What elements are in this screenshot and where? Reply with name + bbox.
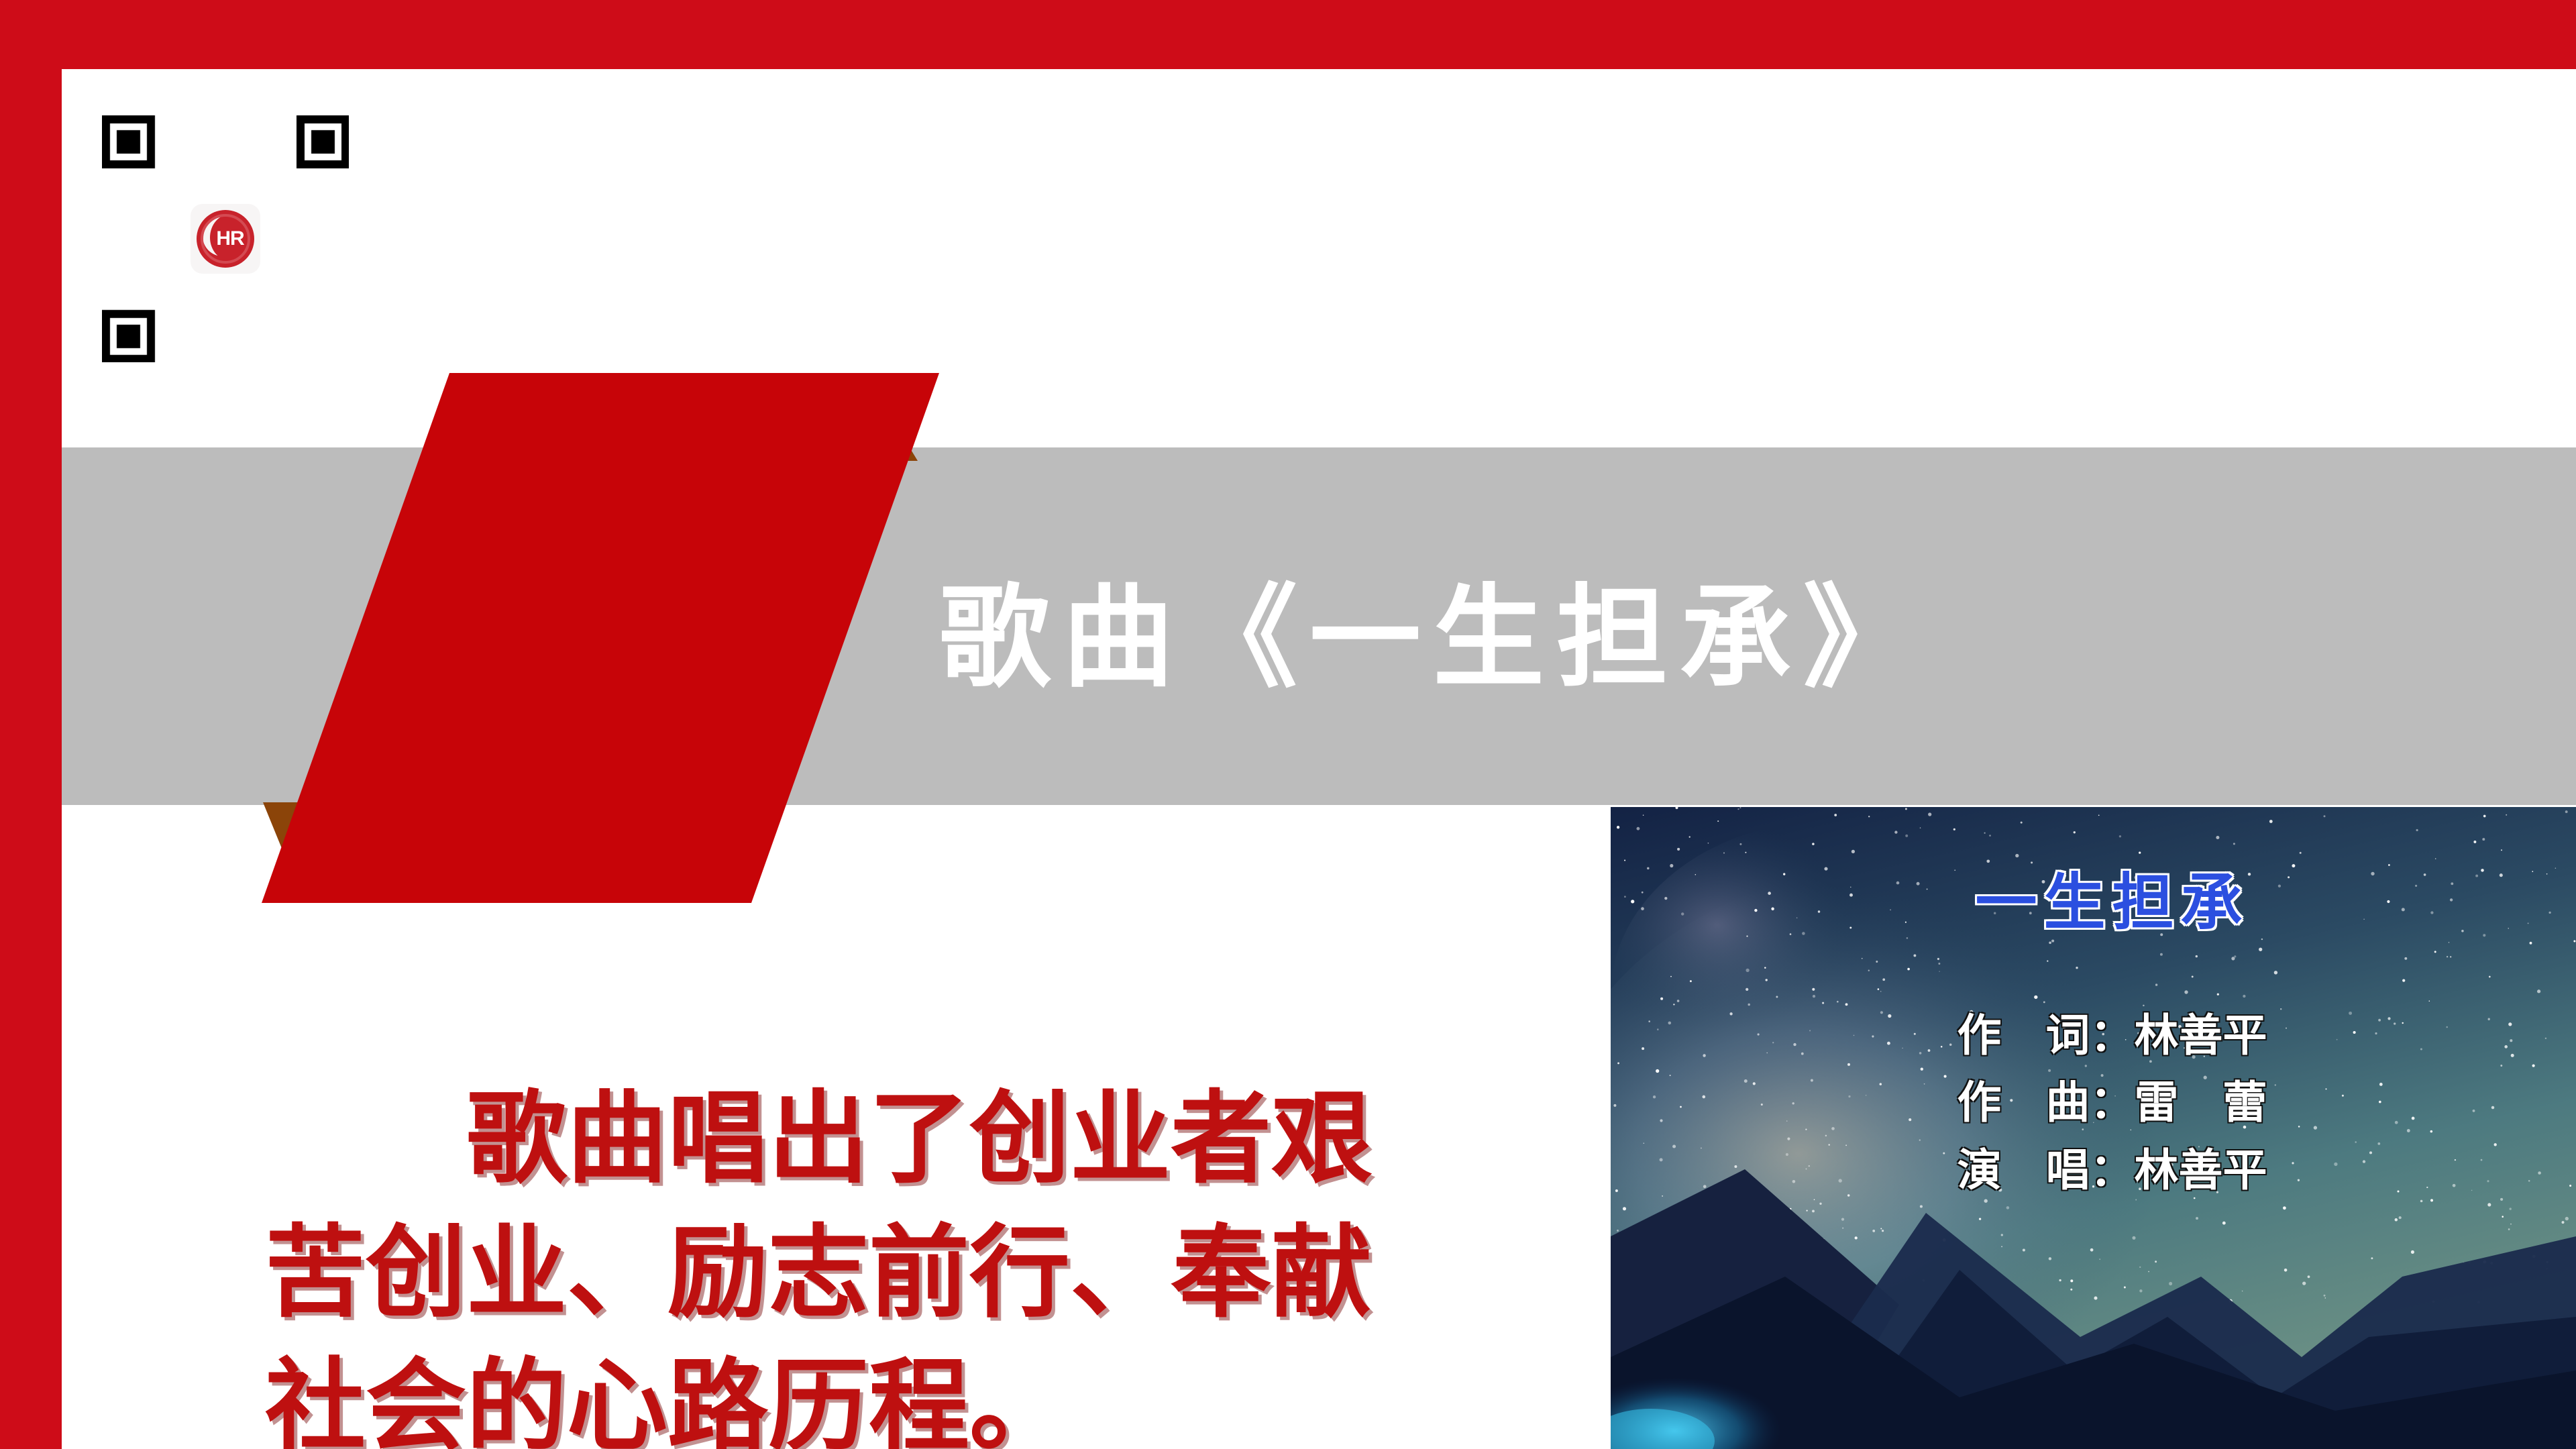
song-title-overlay: 一生担承 [1629,853,2576,942]
left-red-bar [0,0,62,1449]
top-red-band [0,0,2576,69]
qr-code[interactable]: HR [102,115,349,362]
qr-logo-label: HR [216,227,244,250]
song-cover-image: 一生担承 作 词：林善平 作 曲：雷 蕾 演 唱：林善平 [1611,807,2576,1449]
qr-center-logo: HR [191,204,260,274]
song-credits: 作 词：林善平 作 曲：雷 蕾 演 唱：林善平 [1629,1002,2576,1203]
credit-singer: 演 唱：林善平 [1629,1136,2576,1203]
red-ribbon-banner [262,373,939,903]
slide-canvas: HR 歌曲《一生担承》 歌曲唱出了创业者艰苦创业、励志前行、奉献社会的心路历程。 [0,0,2576,1449]
page-title: 歌曲《一生担承》 [939,530,2482,724]
credit-lyricist: 作 词：林善平 [1629,1002,2576,1069]
body-paragraph: 歌曲唱出了创业者艰苦创业、励志前行、奉献社会的心路历程。 [265,1072,1466,1449]
credit-composer: 作 曲：雷 蕾 [1629,1069,2576,1136]
